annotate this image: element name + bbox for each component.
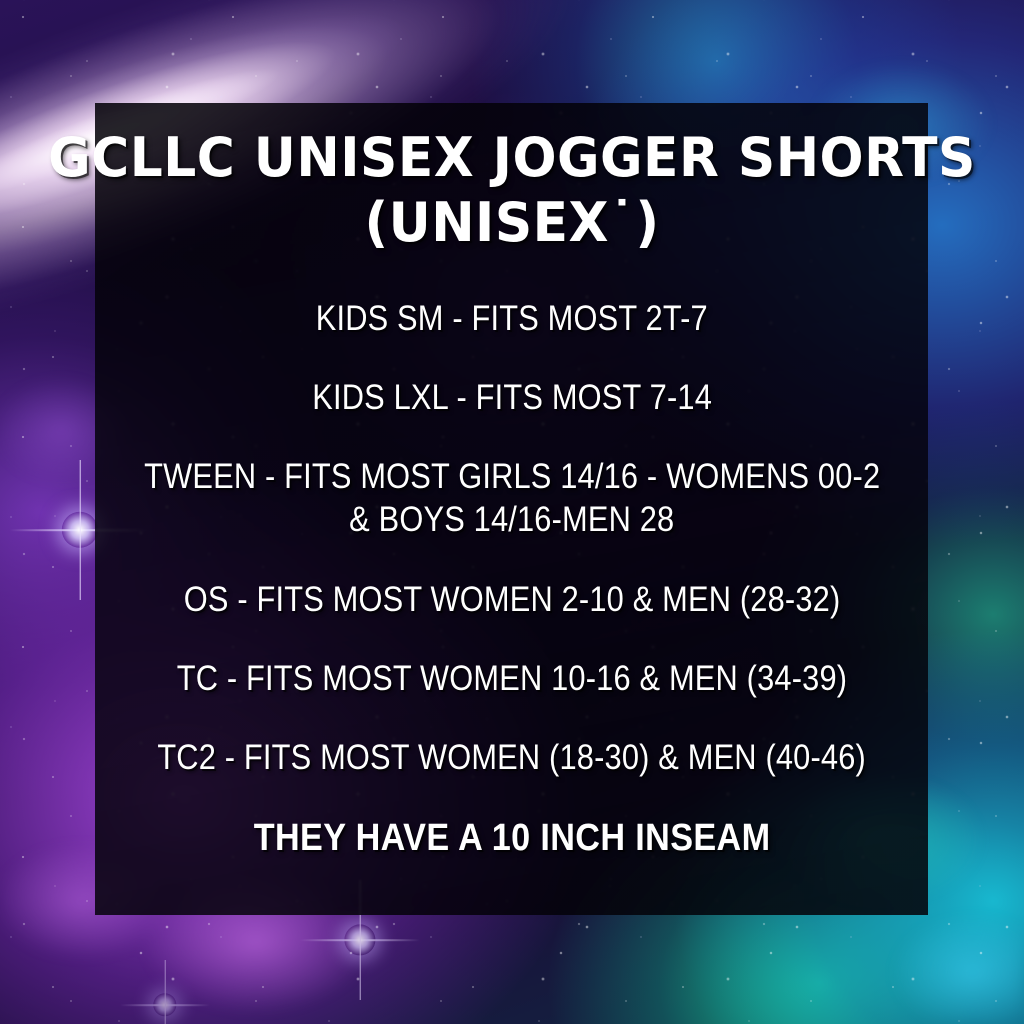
page-subtitle: (UNISEX˙): [30, 193, 994, 252]
size-line-kids-lxl: KIDS LXL - FITS MOST 7-14: [312, 378, 712, 417]
size-line-os: OS - FITS MOST WOMEN 2-10 & MEN (28-32): [184, 580, 841, 619]
poster-title-block: GCLLC UNISEX JOGGER SHORTS (UNISEX˙): [10, 128, 1014, 253]
page-title: GCLLC UNISEX JOGGER SHORTS: [30, 128, 994, 187]
size-line-tc: TC - FITS MOST WOMEN 10-16 & MEN (34-39): [177, 659, 847, 698]
size-line-kids-sm: KIDS SM - FITS MOST 2T-7: [316, 299, 708, 338]
poster-content: GCLLC UNISEX JOGGER SHORTS (UNISEX˙) KID…: [0, 0, 1024, 1024]
size-line-tc2: TC2 - FITS MOST WOMEN (18-30) & MEN (40-…: [158, 738, 867, 777]
inseam-note: THEY HAVE A 10 INCH INSEAM: [254, 817, 771, 860]
size-line-tween-secondary: & BOYS 14/16-MEN 28: [349, 500, 674, 539]
size-line-tween-primary: TWEEN - FITS MOST GIRLS 14/16 - WOMENS 0…: [144, 457, 880, 496]
poster-canvas: GCLLC UNISEX JOGGER SHORTS (UNISEX˙) KID…: [0, 0, 1024, 1024]
